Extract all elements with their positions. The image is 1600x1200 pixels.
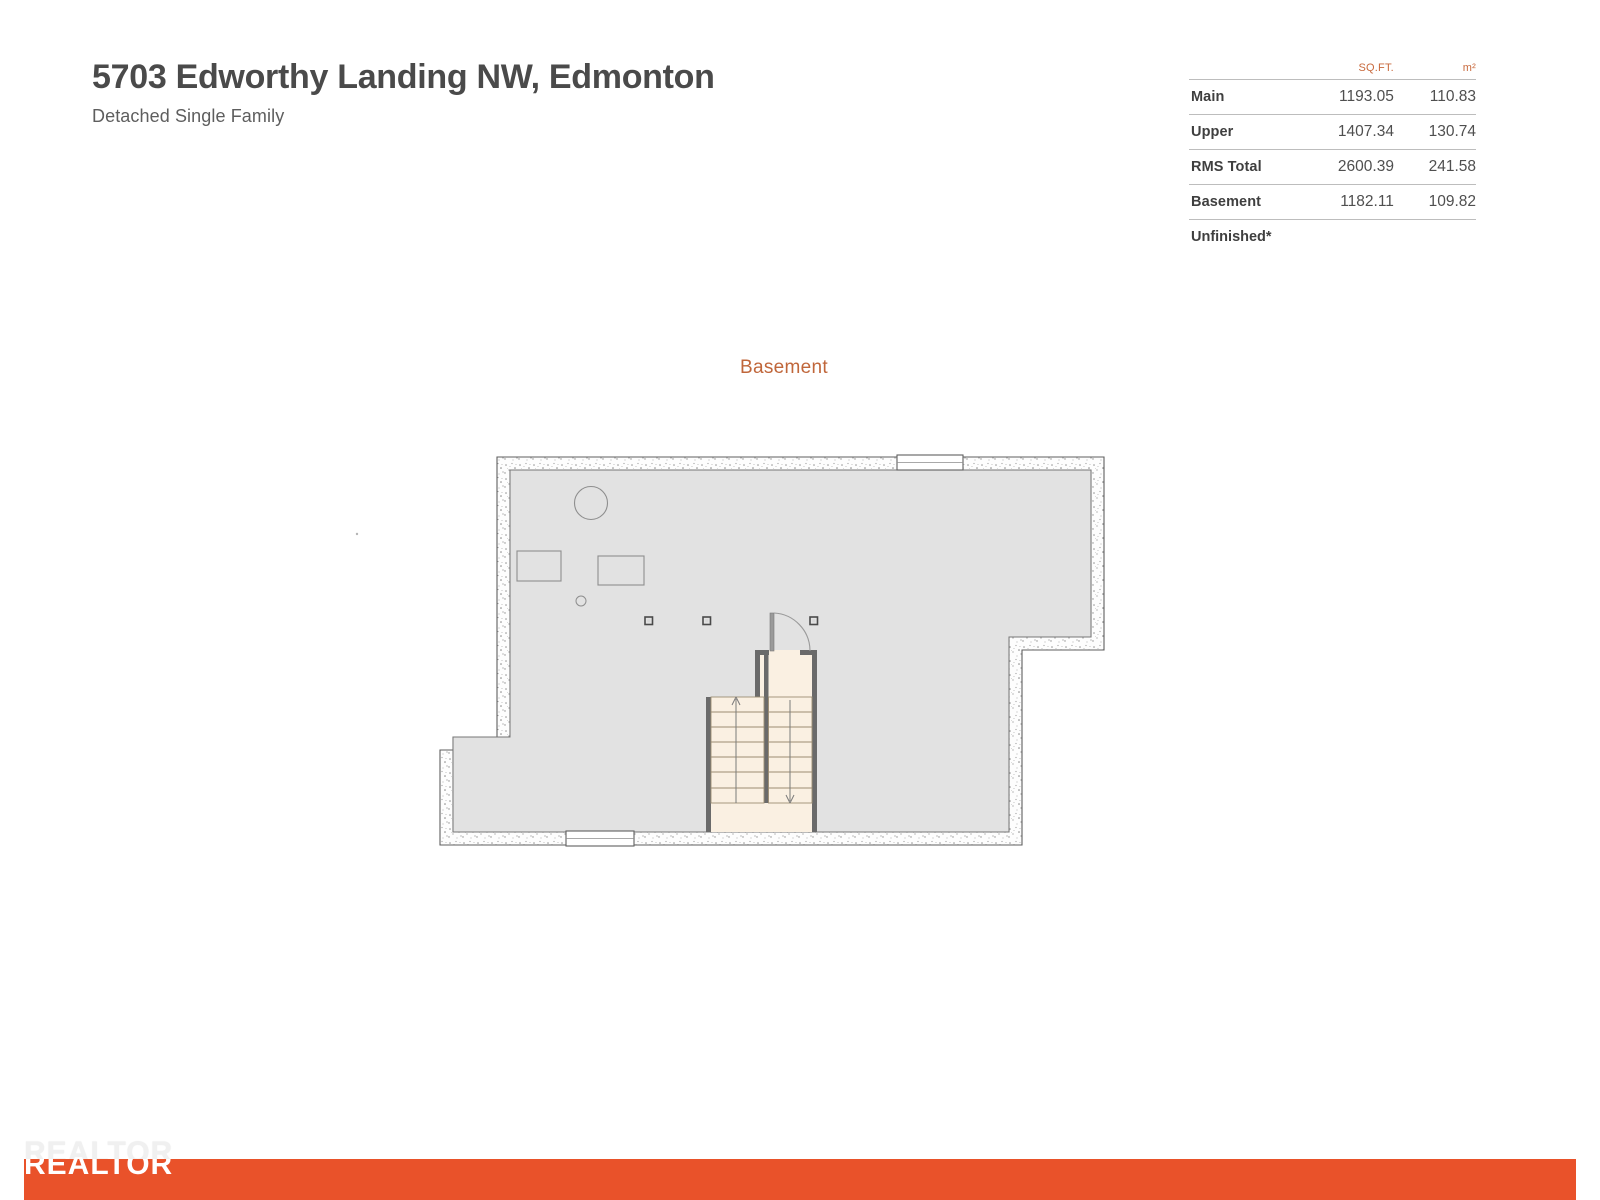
floor-drain-icon xyxy=(576,596,586,606)
hot-water-tank-icon xyxy=(517,551,561,581)
stair-divider-wall xyxy=(764,655,769,803)
table-row: Main 1193.05 110.83 xyxy=(1189,80,1476,115)
header-block: 5703 Edworthy Landing NW, Edmonton Detac… xyxy=(92,58,992,127)
row-sqft-main: 1193.05 xyxy=(1297,80,1394,115)
row-sqft-basement: 1182.11 xyxy=(1297,185,1394,220)
exterior-wall xyxy=(440,457,1104,845)
support-post-1-icon xyxy=(645,617,653,625)
unfinished-note: Unfinished* xyxy=(1189,220,1476,246)
footer-bar xyxy=(24,1159,1576,1200)
basement-floor-area xyxy=(453,470,1091,832)
stair-enclosure-fill xyxy=(711,650,817,832)
stair-wall-right-upper xyxy=(812,650,817,832)
area-summary-table: SQ.FT. m² Main 1193.05 110.83 Upper 1407… xyxy=(1189,62,1476,245)
door-icon xyxy=(770,613,810,651)
row-m2-upper: 130.74 xyxy=(1394,115,1476,150)
window-north-icon xyxy=(897,455,963,470)
row-label-main: Main xyxy=(1189,80,1297,115)
row-label-basement: Basement xyxy=(1189,185,1297,220)
table-header-m2: m² xyxy=(1394,62,1476,80)
utility-unit-icon xyxy=(598,556,644,585)
table-row: Basement 1182.11 109.82 xyxy=(1189,185,1476,220)
table-header-blank xyxy=(1189,62,1297,80)
row-m2-main: 110.83 xyxy=(1394,80,1476,115)
property-subtitle: Detached Single Family xyxy=(92,106,992,127)
row-label-rms-total: RMS Total xyxy=(1189,150,1297,185)
row-m2-basement: 109.82 xyxy=(1394,185,1476,220)
stair-run-down xyxy=(769,697,813,803)
stair-run-up xyxy=(711,697,764,803)
table-row: Upper 1407.34 130.74 xyxy=(1189,115,1476,150)
stray-mark xyxy=(356,533,358,535)
support-post-3-icon xyxy=(810,617,818,625)
row-sqft-rms-total: 2600.39 xyxy=(1297,150,1394,185)
table-header-row: SQ.FT. m² xyxy=(1189,62,1476,80)
table-note-row: Unfinished* xyxy=(1189,220,1476,246)
table-header-sqft: SQ.FT. xyxy=(1297,62,1394,80)
stair-jamb-right xyxy=(800,650,817,655)
page-title: 5703 Edworthy Landing NW, Edmonton xyxy=(92,58,992,96)
window-south-icon xyxy=(566,831,634,846)
support-post-2-icon xyxy=(703,617,711,625)
furnace-icon xyxy=(575,487,608,520)
floor-plan-label: Basement xyxy=(0,357,1568,379)
row-sqft-upper: 1407.34 xyxy=(1297,115,1394,150)
stair-jamb-left xyxy=(755,650,769,655)
stair-wall-left-lower xyxy=(706,697,711,832)
row-label-upper: Upper xyxy=(1189,115,1297,150)
stair-wall-left-upper xyxy=(755,650,760,697)
row-m2-rms-total: 241.58 xyxy=(1394,150,1476,185)
table-row: RMS Total 2600.39 241.58 xyxy=(1189,150,1476,185)
